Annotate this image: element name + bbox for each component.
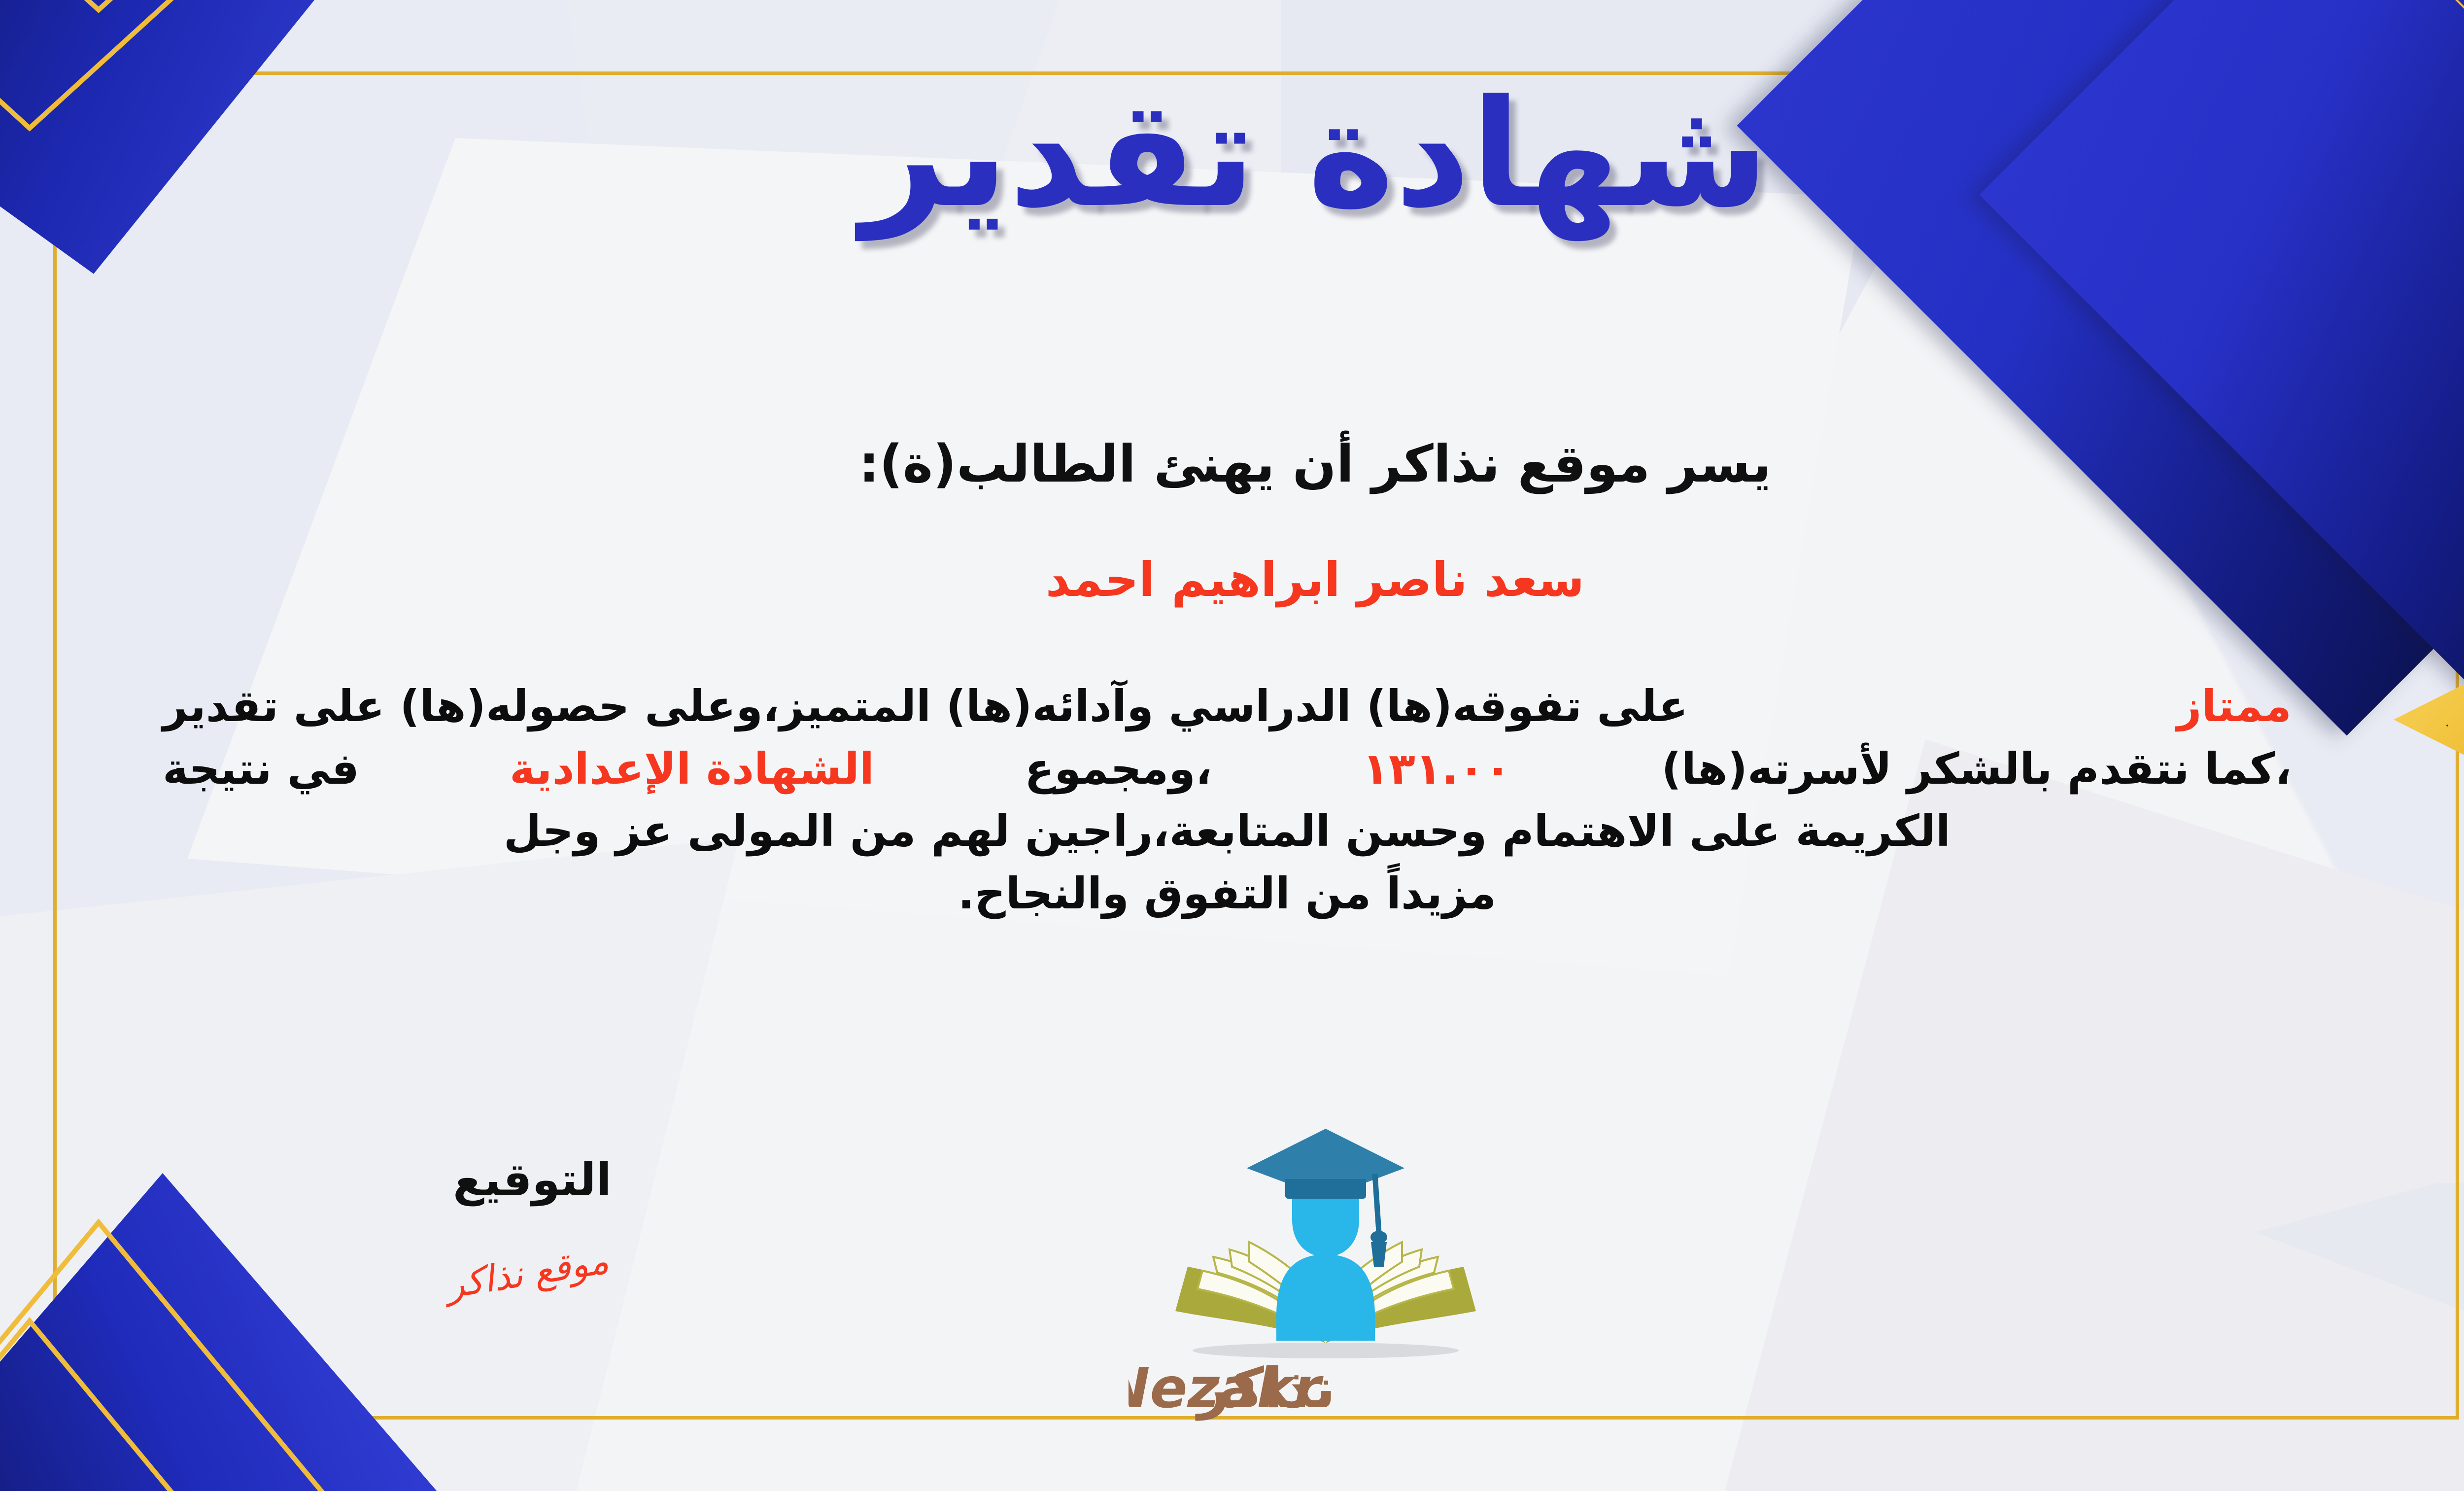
body-line-2-mid: ،ومجموع	[1025, 738, 1212, 800]
certificate-title: شهادة تقدير	[0, 76, 2464, 232]
body-line-2: ،كما نتقدم بالشكر لأسرته(ها) ١٣١.٠٠ ،ومج…	[163, 738, 2292, 800]
graduate-book-logo-icon: Nezakr نذاكر	[1129, 1119, 1523, 1424]
body-line-2-prefix: في نتيجة	[163, 738, 359, 800]
exam-name: الشهادة الإعدادية	[510, 738, 874, 800]
total-score-value: ١٣١.٠٠	[1362, 738, 1511, 800]
body-line-3: الكريمة على الاهتمام وحسن المتابعة،راجين…	[163, 800, 2292, 863]
certificate-body: ممتاز على تفوقه(ها) الدراسي وآدائه(ها) ا…	[163, 675, 2292, 925]
intro-line: يسر موقع نذاكر أن يهنئ الطالب(ة):	[0, 434, 2464, 494]
logo-wordmark-arabic: نذاكر	[1195, 1356, 1335, 1421]
signature-label: التوقيع	[375, 1153, 690, 1206]
body-line-2-suffix: ،كما نتقدم بالشكر لأسرته(ها)	[1662, 738, 2292, 800]
certificate-canvas: شهادة تقدير يسر موقع نذاكر أن يهنئ الطال…	[0, 0, 2464, 1491]
grade-value: ممتاز	[2177, 675, 2292, 738]
body-line-1-text: على تفوقه(ها) الدراسي وآدائه(ها) المتميز…	[163, 675, 1688, 738]
student-name: سعد ناصر ابراهيم احمد	[0, 552, 2464, 607]
body-line-4: مزيداً من التفوق والنجاح.	[163, 863, 2292, 925]
certificate-content: شهادة تقدير يسر موقع نذاكر أن يهنئ الطال…	[0, 0, 2464, 1491]
body-line-1: ممتاز على تفوقه(ها) الدراسي وآدائه(ها) ا…	[163, 675, 2292, 738]
signature-script: موقع نذاكر	[363, 1227, 691, 1319]
nezakr-logo: Nezakr نذاكر	[1129, 1119, 1523, 1424]
